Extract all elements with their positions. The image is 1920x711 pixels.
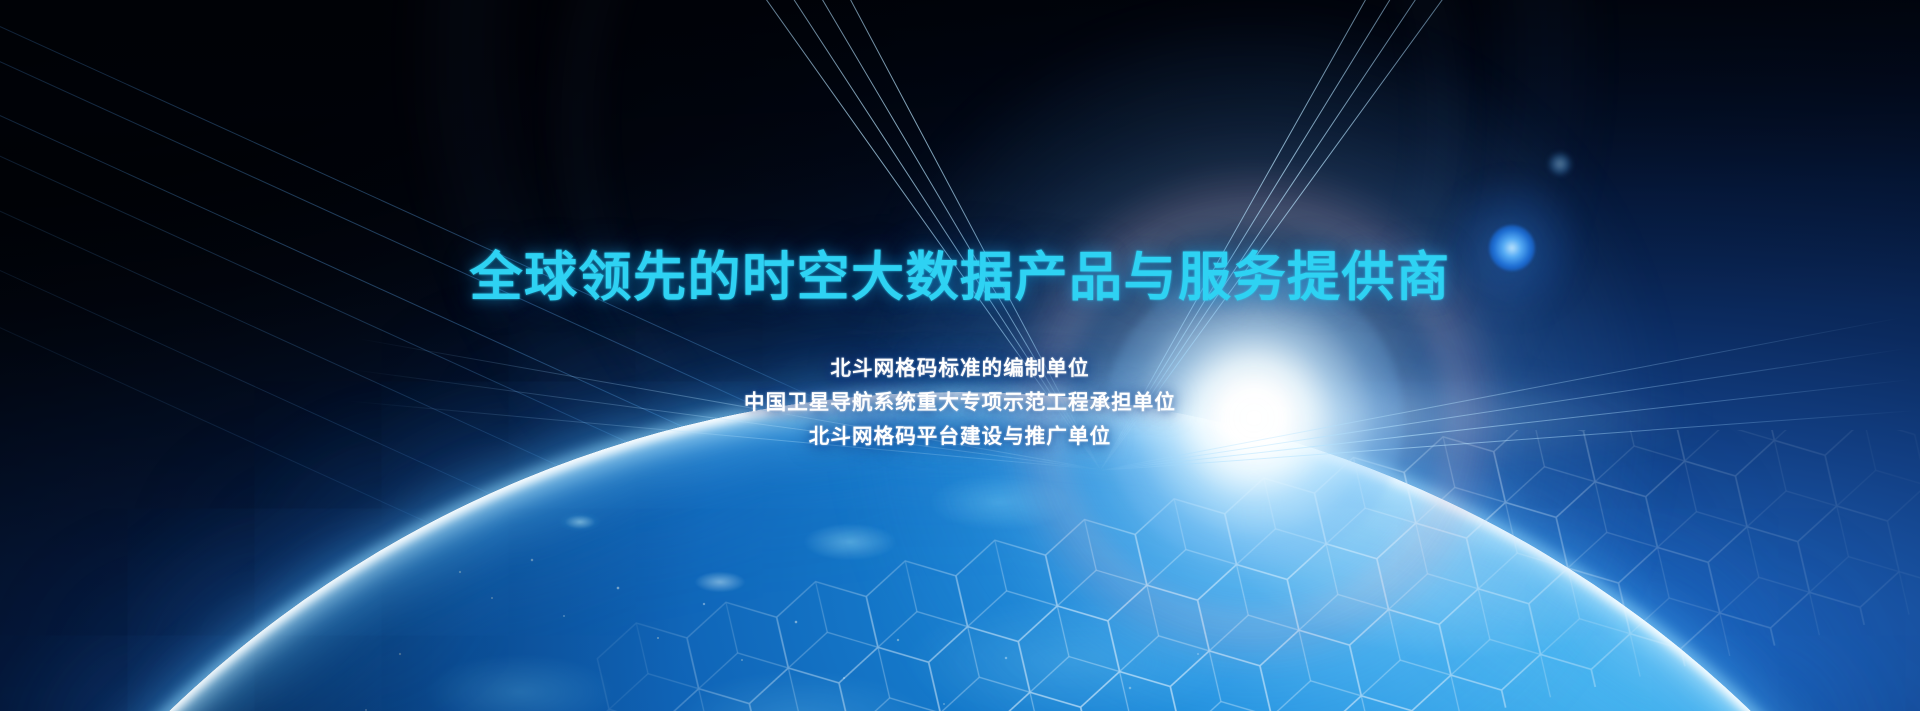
banner-content: 全球领先的时空大数据产品与服务提供商 北斗网格码标准的编制单位 中国卫星导航系统… bbox=[0, 0, 1920, 711]
banner-subline-1: 北斗网格码标准的编制单位 bbox=[0, 352, 1920, 386]
hero-banner: 全球领先的时空大数据产品与服务提供商 北斗网格码标准的编制单位 中国卫星导航系统… bbox=[0, 0, 1920, 711]
banner-subline-3: 北斗网格码平台建设与推广单位 bbox=[0, 420, 1920, 454]
banner-headline: 全球领先的时空大数据产品与服务提供商 bbox=[0, 249, 1920, 306]
banner-subline-list: 北斗网格码标准的编制单位 中国卫星导航系统重大专项示范工程承担单位 北斗网格码平… bbox=[0, 352, 1920, 454]
banner-subline-2: 中国卫星导航系统重大专项示范工程承担单位 bbox=[0, 386, 1920, 420]
